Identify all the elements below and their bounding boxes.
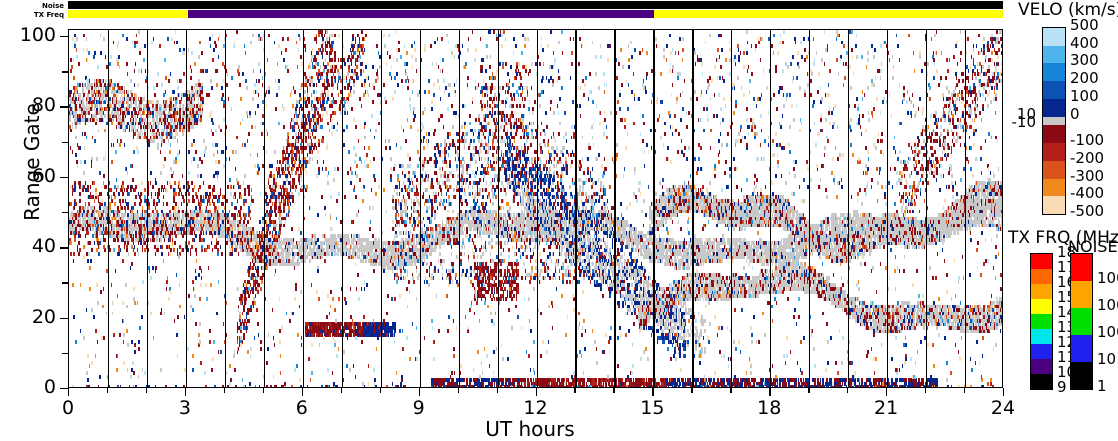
- status-bar-segment: [654, 10, 1003, 18]
- status-bars: Noise TX Freq: [0, 0, 1118, 26]
- range-time-velocity-plot: Noise TX Freq 020406080100 0369121518212…: [0, 0, 1118, 435]
- noise-bar-label: Noise: [0, 2, 64, 10]
- status-bar-segment: [68, 10, 188, 18]
- tx-freq-bar-label: TX Freq: [0, 11, 64, 19]
- status-bar-segment: [188, 10, 654, 18]
- tx-freq-bar-strip: [68, 10, 1003, 18]
- status-bar-segment: [68, 1, 1003, 9]
- plot-area: [68, 29, 1003, 388]
- noise-bar-strip: [68, 1, 1003, 9]
